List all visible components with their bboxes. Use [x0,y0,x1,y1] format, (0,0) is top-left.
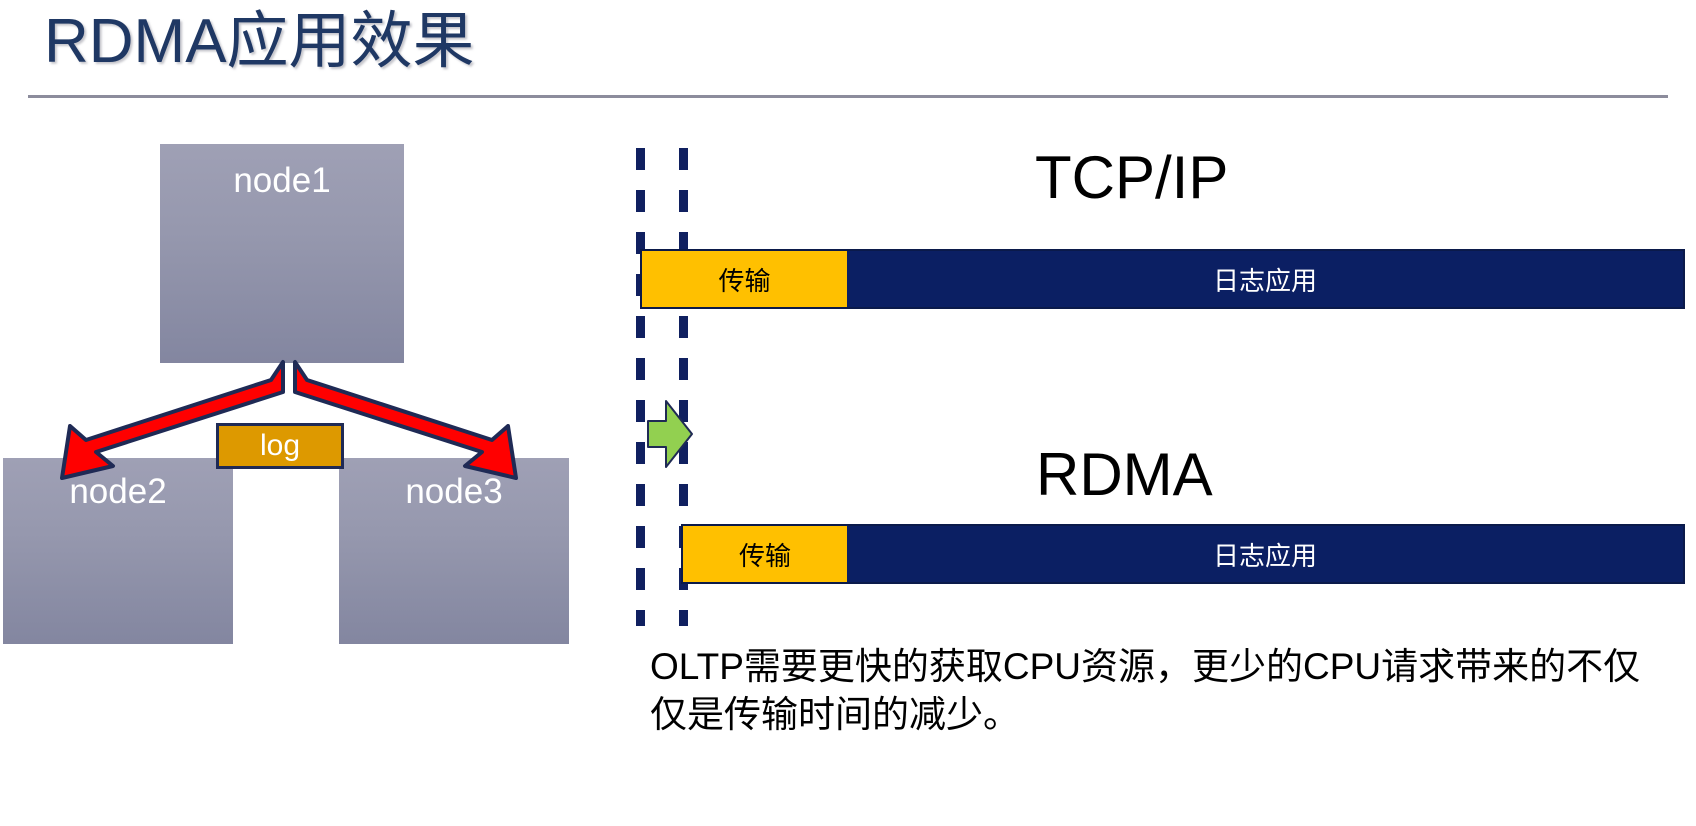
guide-line-start [636,148,645,626]
node1-label: node1 [233,161,330,200]
node-box-node1: node1 [160,144,404,363]
log-label: log [260,429,300,462]
tcpip-bar: 传输 日志应用 [640,249,1685,309]
log-box: log [216,423,344,469]
replication-arrows [0,340,600,500]
tcpip-app-label: 日志应用 [1213,261,1317,298]
tcpip-row-label: TCP/IP [1035,143,1228,212]
tcpip-transfer-segment: 传输 [642,251,847,307]
rdma-transfer-label: 传输 [739,536,791,573]
rdma-app-label: 日志应用 [1213,536,1317,573]
rdma-row-label: RDMA [1036,440,1213,509]
tcpip-transfer-label: 传输 [718,261,770,298]
rdma-transfer-segment: 传输 [683,526,847,582]
caption-text: OLTP需要更快的获取CPU资源，更少的CPU请求带来的不仅仅是传输时间的减少。 [650,643,1670,739]
tcpip-app-segment: 日志应用 [847,251,1683,307]
improvement-arrow-icon [640,399,696,469]
rdma-bar: 传输 日志应用 [681,524,1685,584]
page-title: RDMA应用效果 [44,4,475,80]
slide: RDMA应用效果 node1 node2 node3 log TCP/IP 传输… [0,0,1696,826]
title-divider [28,95,1668,98]
rdma-app-segment: 日志应用 [847,526,1683,582]
